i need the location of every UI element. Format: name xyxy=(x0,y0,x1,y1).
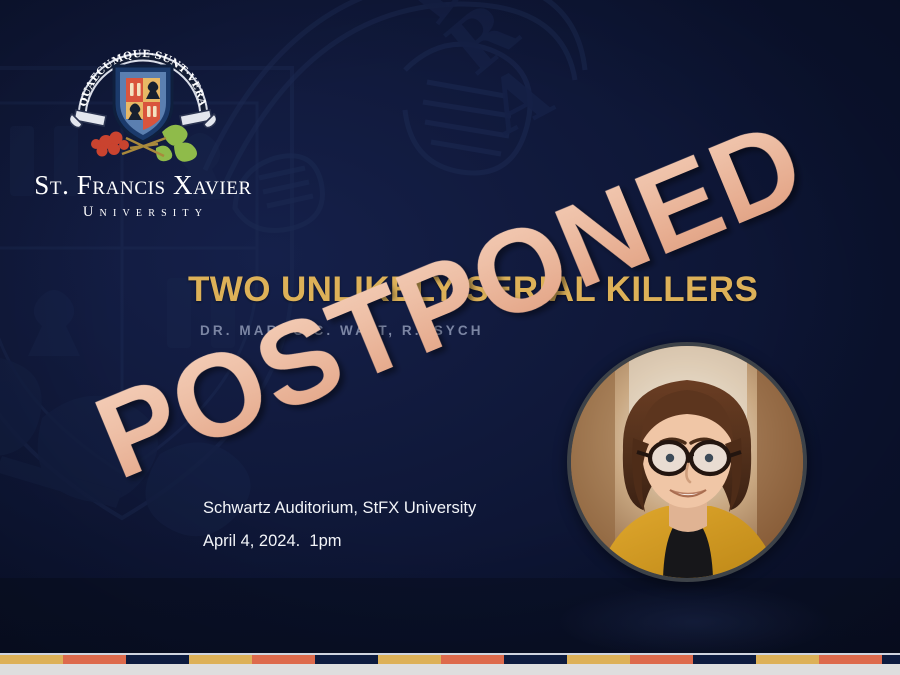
stripe-segment xyxy=(126,655,189,664)
stfx-crest-icon: QUAECUMQUE·SUNT·VERA xyxy=(70,22,216,162)
stripe-segment xyxy=(189,655,252,664)
event-poster: V E R A QUAECUMQUE·SUNT xyxy=(0,0,900,675)
stripe-band xyxy=(0,655,900,664)
institution-name-line2: University xyxy=(18,205,268,220)
stripe-segment xyxy=(63,655,126,664)
institution-name-line1: St. Francis Xavier xyxy=(18,172,268,199)
event-details: Schwartz Auditorium, StFX University Apr… xyxy=(203,500,476,549)
stfx-wordmark: St. Francis Xavier University xyxy=(18,172,268,220)
stripe-segment xyxy=(315,655,378,664)
stripe-segment xyxy=(630,655,693,664)
speaker-portrait xyxy=(567,342,807,582)
stripe-segment xyxy=(567,655,630,664)
event-datetime: April 4, 2024. 1pm xyxy=(203,533,476,550)
stripe-segment xyxy=(252,655,315,664)
event-speaker-name: DR. MARGO C. WATT, R.PSYCH xyxy=(200,323,848,338)
stripe-segment xyxy=(756,655,819,664)
stripe-segment xyxy=(882,655,900,664)
stripe-segment xyxy=(378,655,441,664)
stripe-segment xyxy=(504,655,567,664)
stripe-segment xyxy=(441,655,504,664)
stripe-segment xyxy=(0,655,63,664)
stfx-logo: QUAECUMQUE·SUNT·VERA xyxy=(18,22,268,220)
event-title: TWO UNLIKELY SERIAL KILLERS xyxy=(188,272,848,309)
bottom-plate xyxy=(0,664,900,675)
stripe-segment xyxy=(693,655,756,664)
headline-block: TWO UNLIKELY SERIAL KILLERS DR. MARGO C.… xyxy=(188,272,848,338)
event-venue: Schwartz Auditorium, StFX University xyxy=(203,500,476,517)
stripe-segment xyxy=(819,655,882,664)
